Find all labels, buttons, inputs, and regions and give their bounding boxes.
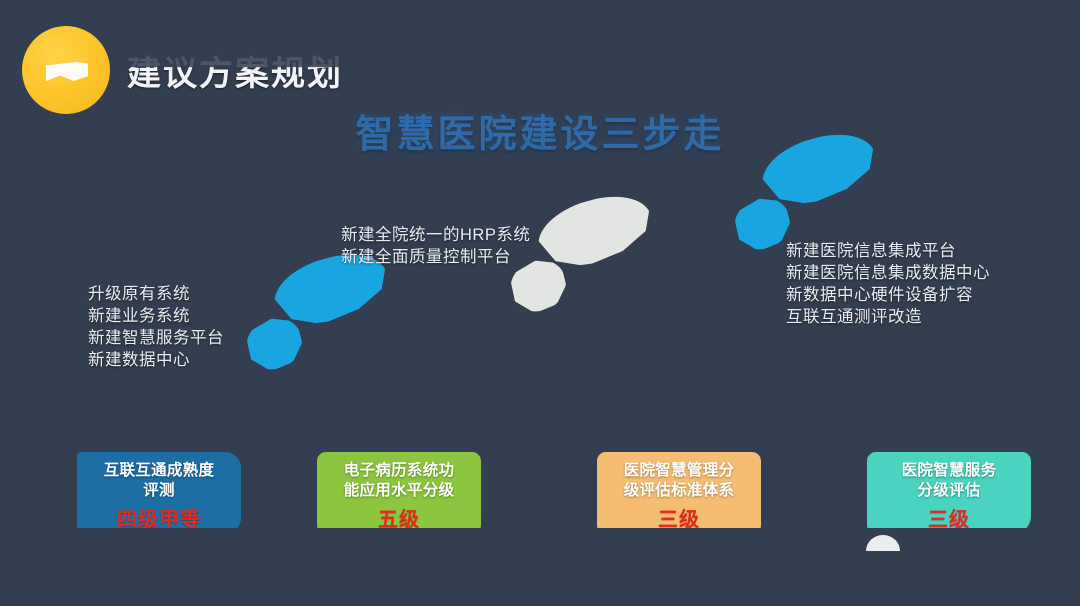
card-title-line-2: 能应用水平分级: [317, 481, 481, 501]
step-1-line-3: 新建智慧服务平台: [88, 327, 224, 349]
result-card-interconnection-maturity[interactable]: 互联互通成熟度 评测 四级甲等: [77, 452, 241, 534]
bottom-clip-band: [0, 528, 1080, 606]
page-title: 智慧医院建设三步走: [0, 103, 1080, 158]
step-2-annotation: 新建全院统一的HRP系统 新建全面质量控制平台: [341, 224, 530, 268]
card-title-line-2: 评测: [77, 481, 241, 501]
card-title-line-2: 级评估标准体系: [597, 481, 761, 501]
flag-icon: [46, 62, 88, 81]
step-3-annotation: 新建医院信息集成平台 新建医院信息集成数据中心 新数据中心硬件设备扩容 互联互通…: [786, 240, 990, 328]
card-title: 电子病历系统功 能应用水平分级: [317, 461, 481, 501]
step-1-line-2: 新建业务系统: [88, 305, 224, 327]
card-title-line-2: 分级评估: [867, 481, 1031, 501]
step-2-line-1: 新建全院统一的HRP系统: [341, 224, 530, 246]
step-3-line-4: 互联互通测评改造: [786, 306, 990, 328]
card-title-line-1: 互联互通成熟度: [77, 461, 241, 481]
card-title: 医院智慧管理分 级评估标准体系: [597, 461, 761, 501]
slide-canvas: 建议方案规划 建议方案规划 智慧医院建设三步走 升级原有系统 新建业务系统 新建…: [0, 0, 1080, 606]
step-2-line-2: 新建全面质量控制平台: [341, 246, 530, 268]
step-3-line-1: 新建医院信息集成平台: [786, 240, 990, 262]
card-title-line-1: 医院智慧管理分: [597, 461, 761, 481]
card-title-line-1: 电子病历系统功: [317, 461, 481, 481]
step-1-line-1: 升级原有系统: [88, 283, 224, 305]
card-title: 医院智慧服务 分级评估: [867, 461, 1031, 501]
result-card-smart-management[interactable]: 医院智慧管理分 级评估标准体系 三级: [597, 452, 761, 534]
step-3-line-2: 新建医院信息集成数据中心: [786, 262, 990, 284]
card-title: 互联互通成熟度 评测: [77, 461, 241, 501]
card-title-line-1: 医院智慧服务: [867, 461, 1031, 481]
result-card-emr-grading[interactable]: 电子病历系统功 能应用水平分级 五级: [317, 452, 481, 534]
result-card-smart-service[interactable]: 医院智慧服务 分级评估 三级: [867, 452, 1031, 534]
step-3-line-3: 新数据中心硬件设备扩容: [786, 284, 990, 306]
step-1-annotation: 升级原有系统 新建业务系统 新建智慧服务平台 新建数据中心: [88, 283, 224, 371]
step-1-line-4: 新建数据中心: [88, 349, 224, 371]
header-badge: [22, 26, 110, 114]
footprint-heel: [240, 312, 308, 376]
